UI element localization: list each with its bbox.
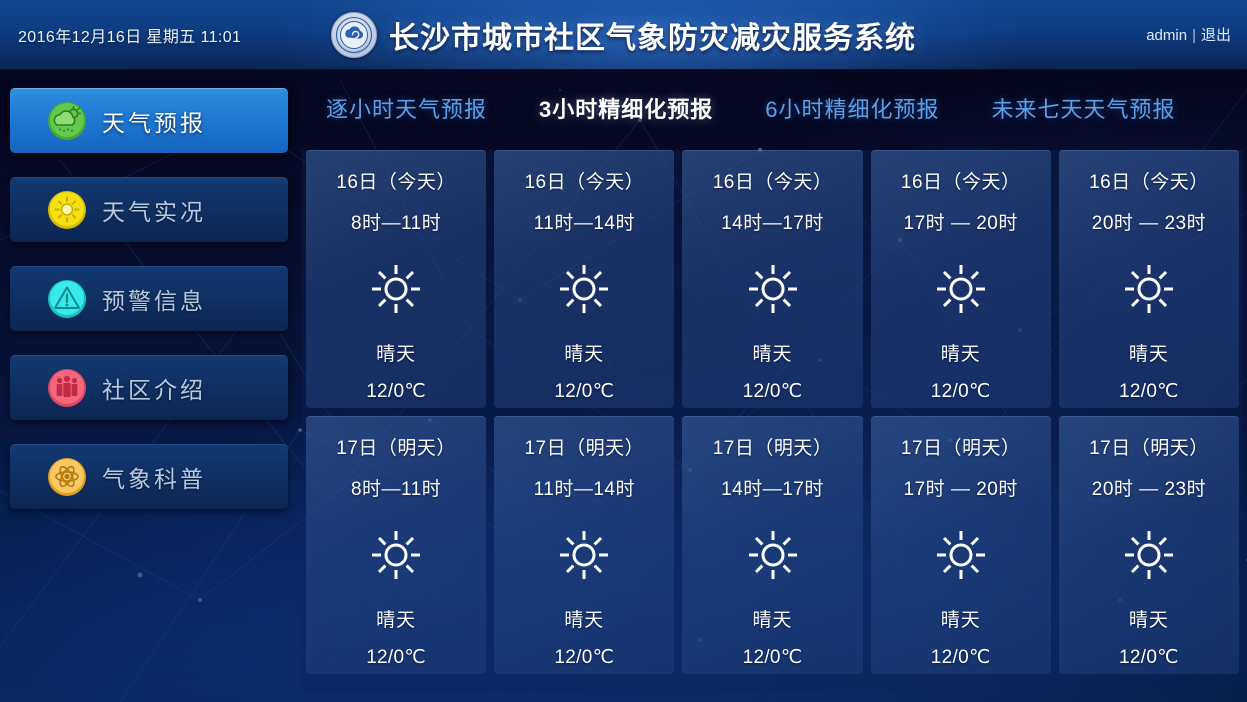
card-day-label: 17日（明天）: [336, 433, 456, 460]
card-weather-desc: 晴天: [376, 339, 416, 366]
card-time-range: 17时 — 20时: [904, 474, 1018, 501]
card-day-label: 17日（明天）: [713, 433, 833, 460]
header-user-area: admin|退出: [1146, 24, 1231, 45]
card-temperature: 12/0℃: [931, 646, 991, 669]
sidebar-item-weather-forecast[interactable]: 天气预报: [10, 88, 288, 153]
sun-icon: [556, 261, 612, 317]
card-weather-desc: 晴天: [564, 339, 604, 366]
sidebar-item-weather-science[interactable]: 气象科普: [10, 444, 288, 509]
card-time-range: 14时—17时: [721, 474, 824, 501]
card-weather-desc: 晴天: [376, 605, 416, 632]
sun-icon: [1121, 261, 1177, 317]
card-temperature: 12/0℃: [1119, 646, 1179, 669]
card-time-range: 8时—11时: [351, 208, 441, 235]
tab-hourly-forecast[interactable]: 逐小时天气预报: [312, 92, 501, 124]
card-time-range: 20时 — 23时: [1092, 474, 1206, 501]
card-weather-desc: 晴天: [941, 339, 981, 366]
card-time-range: 14时—17时: [721, 208, 824, 235]
warning-triangle-icon: [46, 278, 88, 320]
card-day-label: 16日（今天）: [901, 167, 1021, 194]
forecast-card[interactable]: 16日（今天） 14时—17时 晴天 12/0℃: [682, 150, 862, 408]
forecast-card[interactable]: 16日（今天） 8时—11时 晴天 12/0℃: [306, 150, 486, 408]
sun-icon: [933, 527, 989, 583]
main-content: 逐小时天气预报 3小时精细化预报 6小时精细化预报 未来七天天气预报 16日（今…: [298, 70, 1247, 702]
sun-icon: [46, 189, 88, 231]
sun-icon: [556, 527, 612, 583]
card-day-label: 17日（明天）: [524, 433, 644, 460]
sidebar-item-label: 气象科普: [102, 460, 206, 494]
logout-button[interactable]: 退出: [1201, 27, 1231, 44]
sun-icon: [933, 261, 989, 317]
forecast-card[interactable]: 17日（明天） 17时 — 20时 晴天 12/0℃: [871, 416, 1051, 674]
card-time-range: 20时 — 23时: [1092, 208, 1206, 235]
sun-icon: [368, 527, 424, 583]
card-weather-desc: 晴天: [753, 605, 793, 632]
card-day-label: 16日（今天）: [336, 167, 456, 194]
page-title: 长沙市城市社区气象防灾减灾服务系统: [389, 13, 916, 57]
card-temperature: 12/0℃: [1119, 380, 1179, 403]
app-header: 2016年12月16日 星期五 11:01 长沙市城市社区气象防灾减灾服务系统 …: [0, 0, 1247, 70]
forecast-card[interactable]: 17日（明天） 8时—11时 晴天 12/0℃: [306, 416, 486, 674]
forecast-row: 17日（明天） 8时—11时 晴天 12/0℃: [302, 416, 1243, 674]
sun-icon: [745, 261, 801, 317]
card-day-label: 17日（明天）: [901, 433, 1021, 460]
sun-icon: [1121, 527, 1177, 583]
card-time-range: 17时 — 20时: [904, 208, 1018, 235]
card-weather-desc: 晴天: [753, 339, 793, 366]
forecast-card[interactable]: 16日（今天） 11时—14时 晴天 12/0℃: [494, 150, 674, 408]
card-temperature: 12/0℃: [366, 380, 426, 403]
forecast-card[interactable]: 17日（明天） 20时 — 23时 晴天 12/0℃: [1059, 416, 1239, 674]
card-day-label: 17日（明天）: [1089, 433, 1209, 460]
card-weather-desc: 晴天: [1129, 339, 1169, 366]
sidebar-item-label: 社区介绍: [102, 371, 206, 405]
card-day-label: 16日（今天）: [1089, 167, 1209, 194]
forecast-tabbar: 逐小时天气预报 3小时精细化预报 6小时精细化预报 未来七天天气预报: [298, 84, 1247, 132]
header-title-group: 长沙市城市社区气象防灾减灾服务系统: [0, 0, 1247, 70]
card-time-range: 11时—14时: [534, 474, 635, 501]
card-temperature: 12/0℃: [554, 646, 614, 669]
sun-icon: [368, 261, 424, 317]
cloud-sun-rain-icon: [46, 100, 88, 142]
forecast-card[interactable]: 17日（明天） 14时—17时 晴天 12/0℃: [682, 416, 862, 674]
tab-3hour-forecast[interactable]: 3小时精细化预报: [525, 92, 727, 124]
atom-icon: [46, 456, 88, 498]
card-time-range: 8时—11时: [351, 474, 441, 501]
tab-6hour-forecast[interactable]: 6小时精细化预报: [751, 92, 953, 124]
sidebar-item-label: 预警信息: [102, 282, 206, 316]
sun-icon: [745, 527, 801, 583]
cma-cloud-emblem-icon: [331, 12, 377, 58]
forecast-card[interactable]: 17日（明天） 11时—14时 晴天 12/0℃: [494, 416, 674, 674]
card-temperature: 12/0℃: [743, 380, 803, 403]
forecast-row: 16日（今天） 8时—11时 晴天 12/0℃: [302, 150, 1243, 408]
forecast-card[interactable]: 16日（今天） 20时 — 23时 晴天 12/0℃: [1059, 150, 1239, 408]
card-temperature: 12/0℃: [366, 646, 426, 669]
card-temperature: 12/0℃: [743, 646, 803, 669]
username-label[interactable]: admin: [1146, 27, 1187, 44]
forecast-card[interactable]: 16日（今天） 17时 — 20时 晴天 12/0℃: [871, 150, 1051, 408]
header-separator: |: [1192, 27, 1196, 44]
sidebar-item-live-weather[interactable]: 天气实况: [10, 177, 288, 242]
sidebar-nav: 天气预报 天气实况: [0, 70, 298, 702]
sidebar-item-label: 天气实况: [102, 193, 206, 227]
card-day-label: 16日（今天）: [713, 167, 833, 194]
sidebar-item-community-intro[interactable]: 社区介绍: [10, 355, 288, 420]
card-time-range: 11时—14时: [534, 208, 635, 235]
sidebar-item-label: 天气预报: [102, 104, 206, 138]
card-temperature: 12/0℃: [554, 380, 614, 403]
forecast-card-grid: 16日（今天） 8时—11时 晴天 12/0℃: [302, 150, 1243, 692]
card-day-label: 16日（今天）: [524, 167, 644, 194]
people-group-icon: [46, 367, 88, 409]
tab-seven-day-forecast[interactable]: 未来七天天气预报: [978, 92, 1190, 124]
sidebar-item-warning-info[interactable]: 预警信息: [10, 266, 288, 331]
card-temperature: 12/0℃: [931, 380, 991, 403]
card-weather-desc: 晴天: [1129, 605, 1169, 632]
card-weather-desc: 晴天: [564, 605, 604, 632]
card-weather-desc: 晴天: [941, 605, 981, 632]
